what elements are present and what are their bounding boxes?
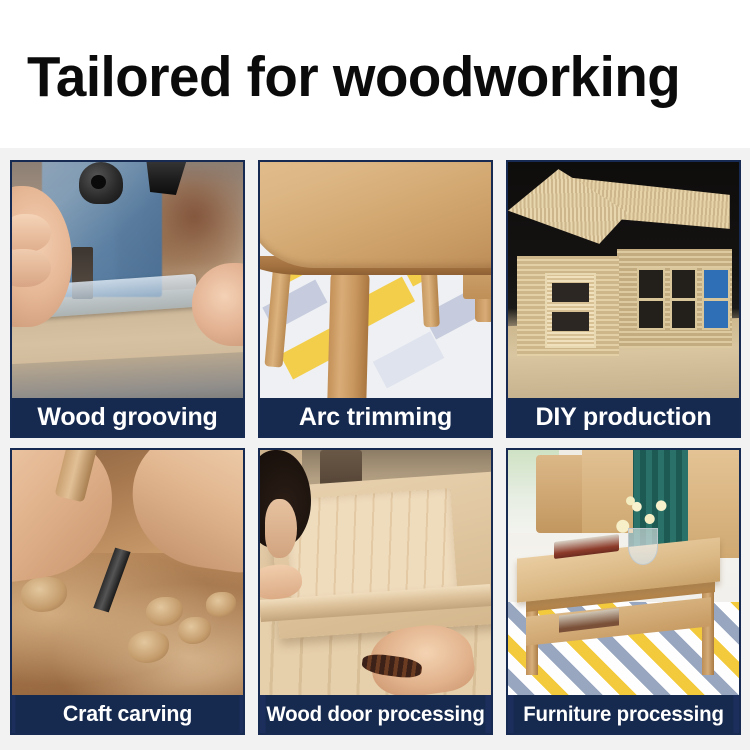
house-window (670, 268, 698, 329)
banner-header: Tailored for woodworking (0, 0, 750, 148)
photo-wood-grooving (12, 162, 243, 398)
router-knob (79, 162, 123, 204)
table-top (260, 162, 491, 268)
gallery-card-diy-production[interactable]: DIY production (506, 160, 741, 438)
card-label-craft-carving: Craft carving (15, 695, 239, 733)
photo-diy-production (508, 162, 739, 398)
card-label-diy-production: DIY production (508, 398, 739, 436)
house-door (545, 273, 596, 349)
page-title: Tailored for woodworking (27, 48, 680, 108)
card-label-arc-trimming: Arc trimming (260, 398, 491, 436)
gallery-card-craft-carving[interactable]: Craft carving (10, 448, 245, 735)
worker-face (265, 499, 297, 558)
glass-vase (628, 528, 658, 564)
gallery-card-wood-grooving[interactable]: Wood grooving (10, 160, 245, 438)
photo-craft-carving (12, 450, 243, 695)
application-gallery-grid: Wood grooving (10, 160, 740, 735)
card-label-wood-grooving: Wood grooving (12, 398, 243, 436)
card-label-furniture-processing: Furniture processing (514, 695, 733, 733)
gallery-card-wood-door-processing[interactable]: Wood door processing (258, 448, 493, 735)
photo-wood-door-processing (260, 450, 491, 695)
house-window (637, 268, 665, 329)
card-label-wood-door-processing: Wood door processing (266, 695, 485, 733)
gallery-card-furniture-processing[interactable]: Furniture processing (506, 448, 741, 735)
table-leg-front (328, 270, 371, 398)
photo-arc-trimming (260, 162, 491, 398)
wood-shaving (178, 617, 210, 644)
background-chair (536, 455, 587, 533)
photo-furniture-processing (508, 450, 739, 695)
gallery-card-arc-trimming[interactable]: Arc trimming (258, 160, 493, 438)
house-window (702, 268, 730, 329)
promo-banner: Tailored for woodworking Wood grooving (0, 0, 750, 750)
